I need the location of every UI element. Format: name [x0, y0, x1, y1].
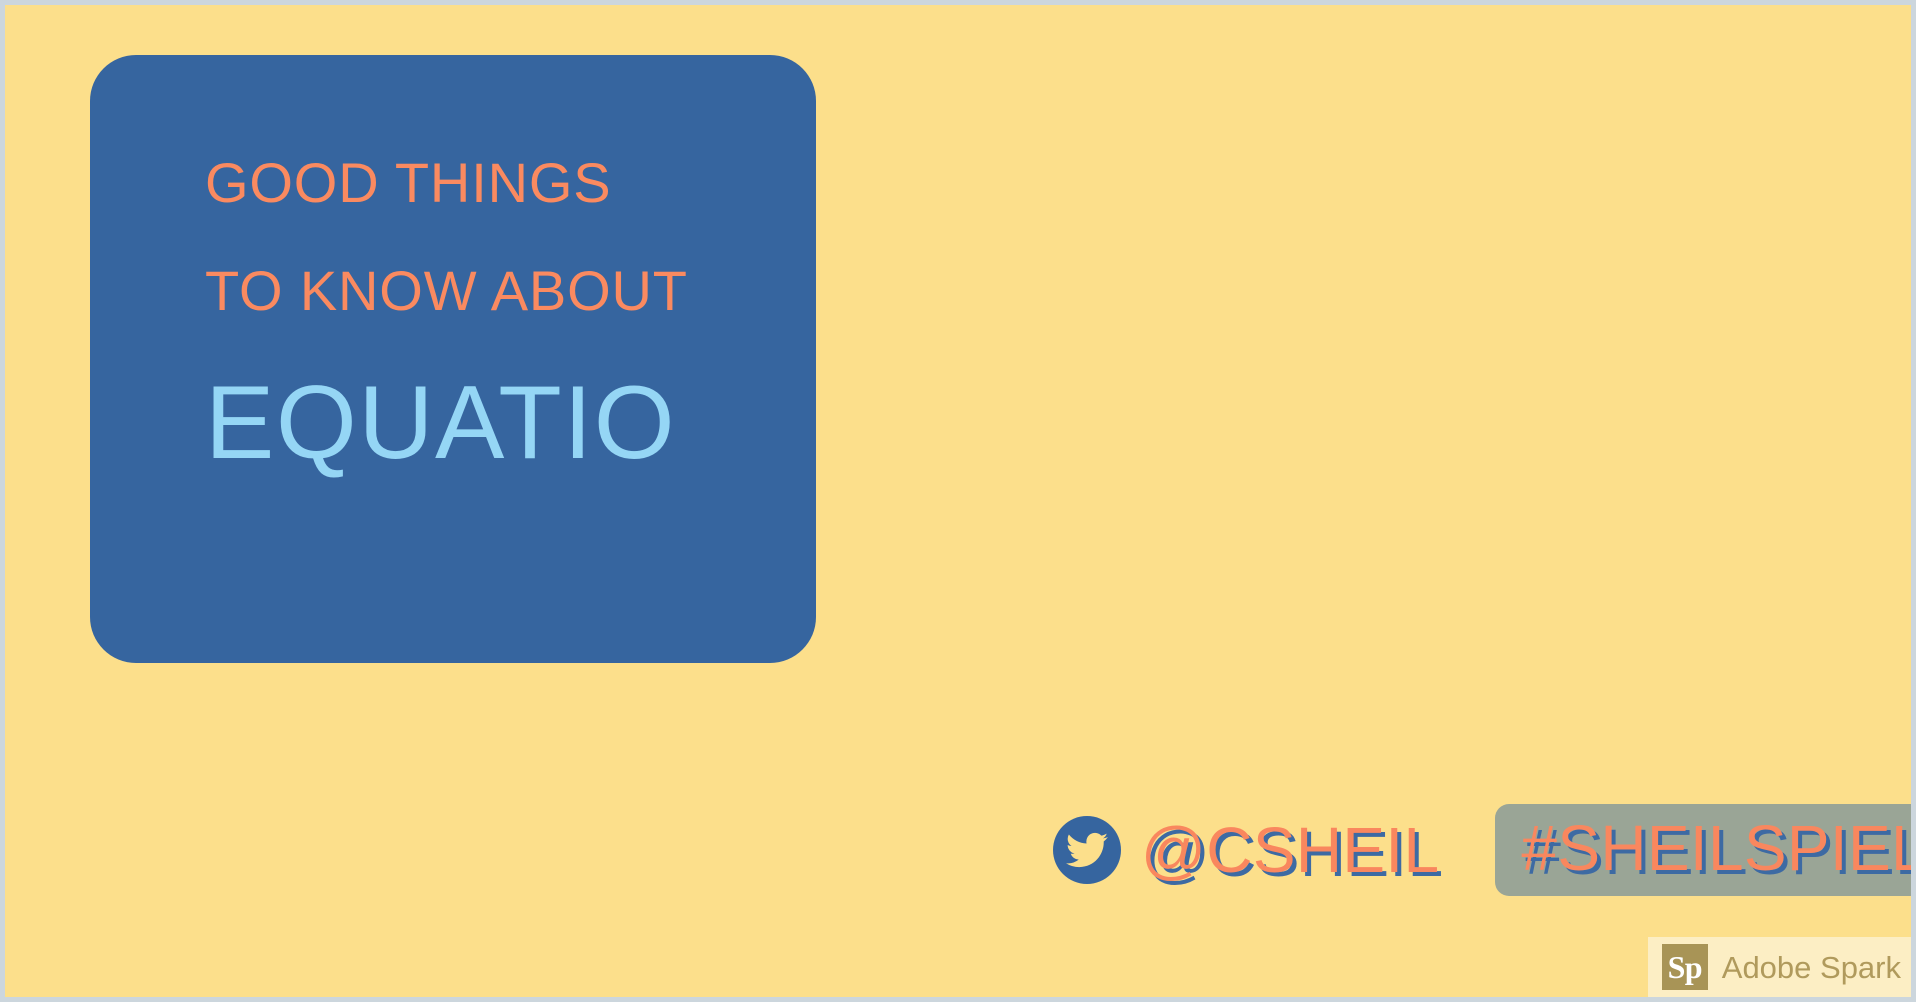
title-line-3-product-name: EQUATIO [205, 371, 776, 475]
social-row: @CSHEIL #SHEILSPIEL [1053, 800, 1916, 900]
twitter-handle-text: @CSHEIL [1141, 818, 1439, 882]
adobe-spark-label: Adobe Spark [1722, 952, 1901, 983]
adobe-spark-logo-icon: Sp [1662, 944, 1708, 990]
title-line-1: GOOD THINGS [205, 155, 776, 211]
twitter-bird-icon[interactable] [1053, 816, 1121, 884]
title-card: GOOD THINGS TO KNOW ABOUT EQUATIO [90, 55, 816, 663]
title-card-text-block: GOOD THINGS TO KNOW ABOUT EQUATIO [205, 155, 776, 475]
title-line-2: TO KNOW ABOUT [205, 263, 776, 319]
adobe-spark-watermark[interactable]: Sp Adobe Spark [1648, 937, 1911, 997]
hashtag-text: #SHEILSPIEL [1521, 816, 1916, 880]
slide-canvas: GOOD THINGS TO KNOW ABOUT EQUATIO @CSHEI… [0, 0, 1916, 1002]
hashtag-badge: #SHEILSPIEL [1495, 804, 1916, 896]
